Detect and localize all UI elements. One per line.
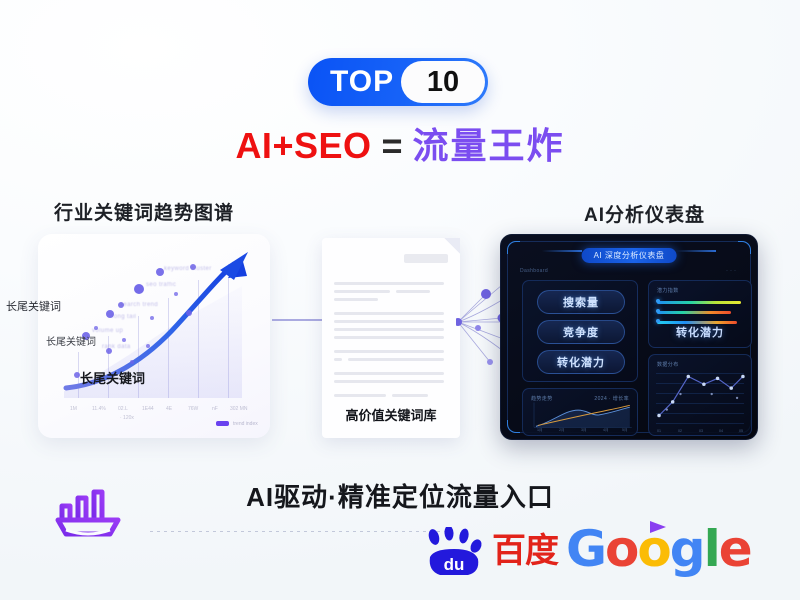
x-tick: 1M: [70, 406, 77, 412]
ghost-label: long tail: [112, 314, 136, 320]
left-section-caption: 行业关键词趋势图谱: [54, 198, 234, 225]
x-tick: 1月: [537, 428, 543, 433]
ai-dashboard-card: AI 深度分析仪表盘 Dashboard ··· 搜索量 竞争度 转化潜力 趋势…: [500, 234, 758, 440]
frame-corner: [507, 420, 520, 433]
scatter-line-chart: [649, 355, 751, 435]
legend-label: trend index: [233, 421, 258, 427]
keyword-dot: [146, 344, 150, 348]
keyword-dot: [150, 316, 154, 320]
doc-text-line: [334, 394, 386, 397]
x-tick: 3月: [581, 428, 587, 433]
title-left: AI+SEO: [235, 125, 371, 166]
google-letter: o: [605, 520, 637, 578]
x-tick: 2月: [559, 428, 565, 433]
keyword-dot: [122, 338, 126, 342]
top-rank-badge: TOP 10: [308, 58, 488, 106]
long-tail-keyword-label: 长尾关键词: [80, 368, 145, 387]
google-letter: G: [566, 520, 605, 578]
x-tick: 1E44: [142, 406, 154, 412]
metric-pill-search-volume[interactable]: 搜索量: [537, 290, 625, 314]
trend-sparkline-panel: 趋势走势 2024 · 增长率 1月 2月 3月 4月 5月: [522, 388, 638, 436]
dashboard-frame: AI 深度分析仪表盘 Dashboard ··· 搜索量 竞争度 转化潜力 趋势…: [507, 241, 751, 433]
x-tick: 02.L: [118, 406, 128, 412]
title-right: 流量王炸: [413, 125, 565, 166]
google-letter: g: [670, 520, 704, 578]
gauge-marker: [656, 309, 660, 313]
doc-bullet: [334, 358, 342, 361]
metric-pill-conversion-potential[interactable]: 转化潜力: [537, 350, 625, 374]
gauge-marker: [656, 319, 660, 323]
x-tick: 302 MN: [230, 406, 248, 412]
top-badge-label: TOP: [308, 67, 394, 97]
gradient-bar: [657, 311, 731, 314]
metrics-panel: 搜索量 竞争度 转化潜力: [522, 280, 638, 382]
baidu-wordmark: 百度: [492, 534, 558, 568]
axis-note: · 120x: [120, 415, 134, 421]
frame-corner: [507, 241, 520, 254]
bar-chart-icon: [48, 484, 128, 546]
ghost-label: search trend: [120, 302, 158, 308]
x-tick: 11.4%: [92, 406, 106, 412]
doc-text-line: [396, 290, 430, 293]
x-tick: 5月: [622, 428, 628, 433]
doc-text-line: [348, 358, 444, 361]
x-tick: nF: [212, 406, 218, 412]
doc-text-line: [334, 298, 378, 301]
gradient-bar: [657, 301, 741, 304]
doc-text-line: [334, 320, 444, 323]
x-tick: 01: [657, 429, 661, 433]
google-letter: e: [719, 520, 751, 578]
panel-title: 潜力指数: [657, 287, 679, 294]
x-tick: 04: [719, 429, 723, 433]
doc-text-line: [334, 312, 444, 315]
frame-corner: [738, 241, 751, 254]
x-tick: 4E: [166, 406, 172, 412]
potential-gauge-panel: 潜力指数 转化潜力: [648, 280, 752, 348]
top-badge-number-pill: 10: [401, 61, 485, 103]
keyword-dot: [156, 268, 164, 276]
keyword-dot: [186, 310, 192, 316]
legend-swatch: [216, 421, 229, 426]
doc-text-line: [334, 282, 444, 285]
keyword-dot: [130, 360, 134, 364]
right-section-caption: AI分析仪表盘: [584, 200, 705, 227]
page-title: AI+SEO=流量王炸: [0, 126, 800, 166]
ghost-label: volume up: [92, 328, 123, 334]
page-fold-icon: [444, 238, 460, 254]
gauge-overlay-label: 转化潜力: [649, 324, 751, 340]
keyword-library-document: 高价值关键词库: [322, 238, 460, 438]
doc-text-line: [334, 380, 444, 383]
google-letter: l: [704, 520, 719, 578]
keyword-dot: [174, 292, 178, 296]
dashboard-corner-label: Dashboard: [520, 268, 548, 274]
baidu-paw-icon: du: [420, 527, 490, 579]
doc-text-line: [334, 336, 444, 339]
header-streak: [542, 250, 582, 252]
ghost-label: seo traffic: [146, 282, 176, 288]
long-tail-keyword-label: 长尾关键词: [6, 298, 61, 314]
gauge-marker: [656, 299, 660, 303]
x-tick: 05: [739, 429, 743, 433]
ghost-label: keyword cluster: [164, 266, 212, 272]
data-distribution-panel: 数据分布: [648, 354, 752, 436]
title-equals: =: [382, 125, 403, 166]
dashboard-title-badge: AI 深度分析仪表盘: [582, 248, 677, 263]
divider-line: [150, 531, 450, 532]
doc-text-line: [334, 328, 444, 331]
top-badge-number: 10: [427, 68, 459, 97]
header-streak: [676, 250, 716, 252]
doc-text-line: [334, 350, 444, 353]
doc-text-line: [392, 394, 428, 397]
doc-header-block: [404, 254, 448, 263]
x-tick: 76W: [188, 406, 198, 412]
long-tail-keyword-label: 长尾关键词: [46, 333, 96, 348]
baidu-logo: du 百度: [420, 523, 570, 579]
baidu-du-text: du: [444, 555, 465, 574]
x-tick: 4月: [603, 428, 609, 433]
slide-canvas: TOP 10 AI+SEO=流量王炸 行业关键词趋势图谱 AI分析仪表盘: [0, 0, 800, 600]
cursor-arrow-icon: [648, 519, 670, 535]
x-tick: 03: [699, 429, 703, 433]
metric-pill-competition[interactable]: 竞争度: [537, 320, 625, 344]
dashboard-menu-icon[interactable]: ···: [726, 268, 738, 274]
x-tick: 02: [678, 429, 682, 433]
doc-text-line: [334, 290, 390, 293]
doc-caption: 高价值关键词库: [322, 405, 460, 424]
keyword-dot: [134, 284, 144, 294]
ghost-label: rank data: [102, 344, 131, 350]
doc-text-line: [334, 372, 444, 375]
